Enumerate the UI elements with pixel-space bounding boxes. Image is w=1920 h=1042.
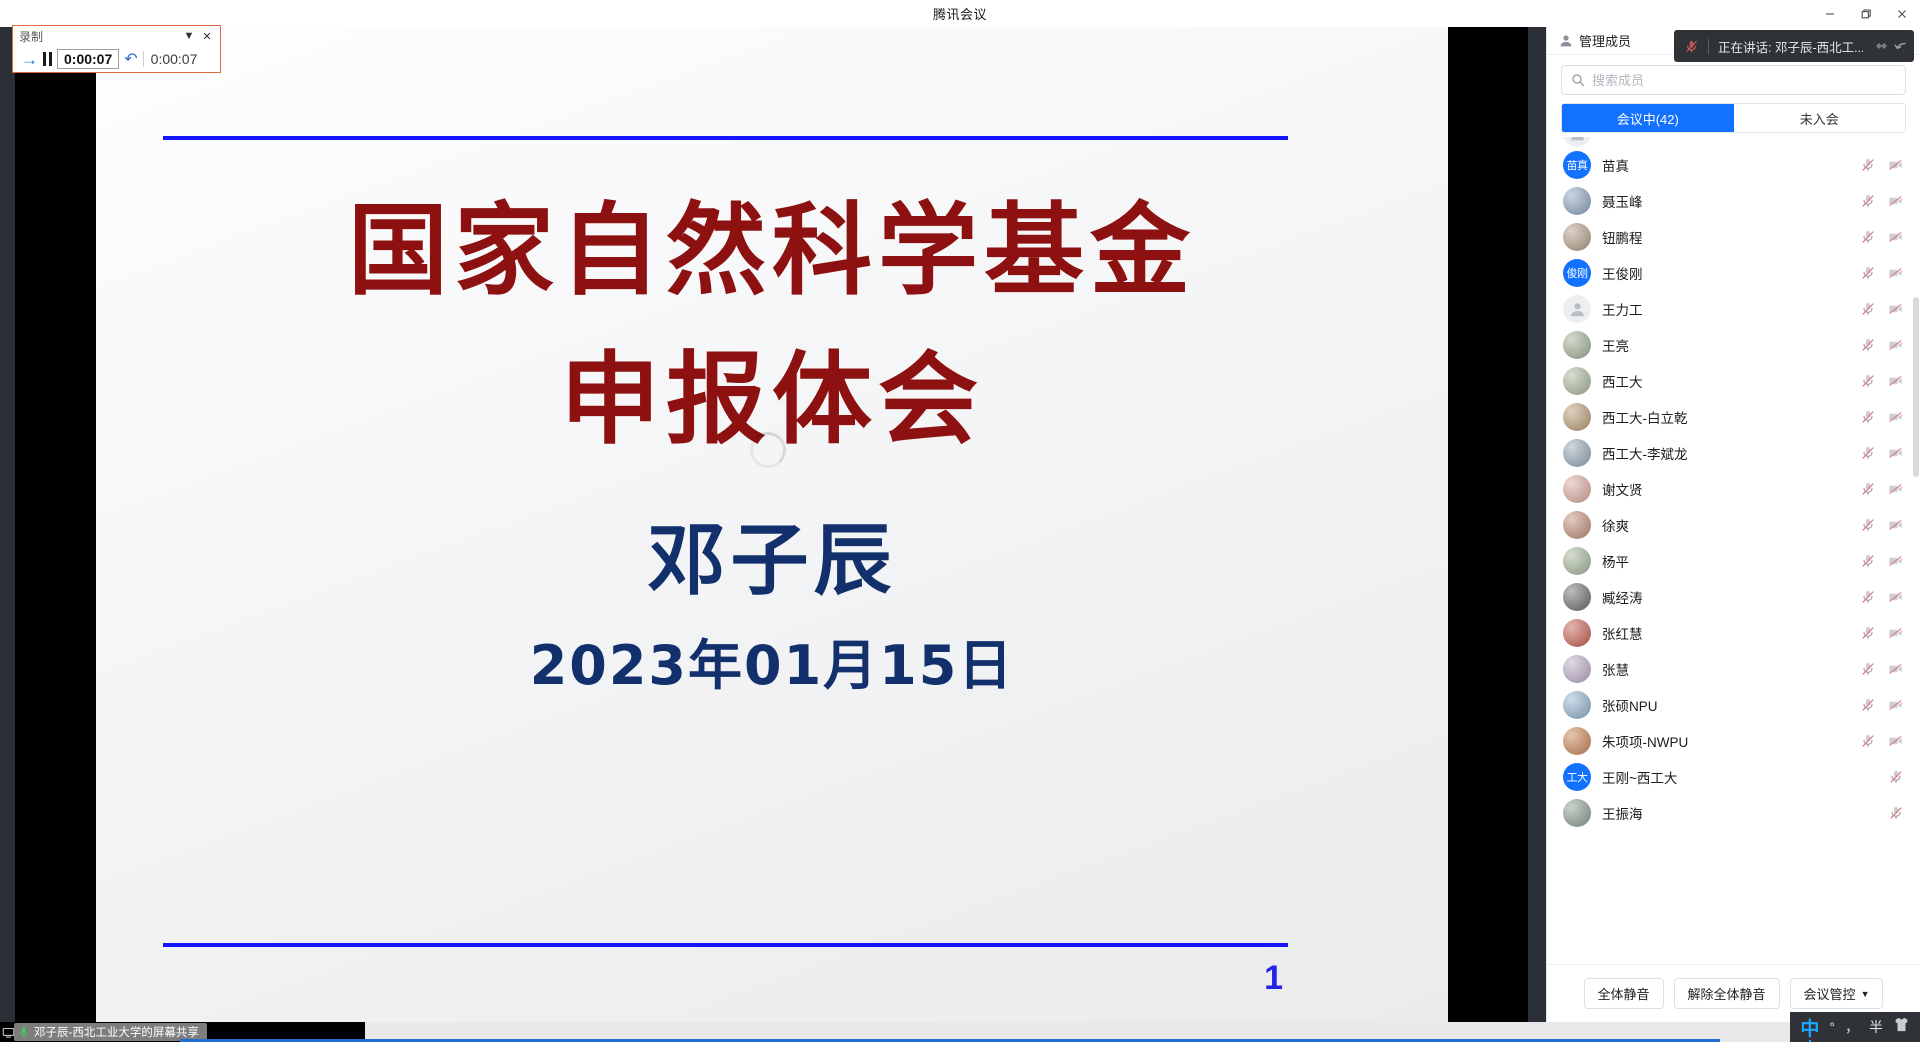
participant-name: 王亮 <box>1602 335 1860 355</box>
mic-muted-icon[interactable] <box>1860 553 1876 569</box>
camera-off-icon[interactable] <box>1888 697 1904 713</box>
participant-name: 王刚~西工大 <box>1602 767 1888 787</box>
participant-list-scrollbar[interactable] <box>1913 297 1919 477</box>
search-box[interactable] <box>1561 65 1906 95</box>
slide-bottom-rule <box>163 943 1288 947</box>
search-icon <box>1571 73 1585 87</box>
avatar: 俊刚 <box>1563 259 1591 287</box>
mic-muted-icon[interactable] <box>1860 697 1876 713</box>
slide-date: 2023年01月15日 <box>96 639 1448 693</box>
search-wrapper <box>1547 55 1920 103</box>
avatar <box>1563 799 1591 827</box>
close-icon[interactable]: ✕ <box>198 27 216 45</box>
participant-name: 张硕NPU <box>1602 695 1860 715</box>
list-item[interactable]: 张硕NPU <box>1547 687 1920 723</box>
list-item-partial <box>1547 137 1920 147</box>
close-icon <box>1896 8 1908 20</box>
window-titlebar: 腾讯会议 <box>0 0 1920 27</box>
mic-muted-icon[interactable] <box>1860 661 1876 677</box>
avatar <box>1563 223 1591 251</box>
recording-elapsed-time: 0:00:07 <box>57 49 119 69</box>
list-item[interactable]: 张慧 <box>1547 651 1920 687</box>
participant-name: 朱项项-NWPU <box>1602 731 1860 751</box>
mic-muted-icon[interactable] <box>1888 805 1904 821</box>
list-item[interactable]: 西工大-李斌龙 <box>1547 435 1920 471</box>
camera-off-icon[interactable] <box>1888 445 1904 461</box>
participant-name: 张红慧 <box>1602 623 1860 643</box>
avatar <box>1563 583 1591 611</box>
participant-status-icons <box>1860 733 1904 749</box>
tab-not-joined[interactable]: 未入会 <box>1734 104 1906 132</box>
panel-title: 管理成员 <box>1579 31 1631 50</box>
participant-status-icons <box>1860 157 1904 173</box>
speaking-toast[interactable]: 正在讲话: 邓子辰-西北工... <box>1674 30 1914 62</box>
list-item[interactable]: 钮鹏程 <box>1547 219 1920 255</box>
recording-label: 录制 <box>19 28 180 45</box>
mic-muted-icon[interactable] <box>1860 157 1876 173</box>
list-item[interactable]: 西工大-白立乾 <box>1547 399 1920 435</box>
mic-muted-icon[interactable] <box>1888 769 1904 785</box>
avatar <box>1563 403 1591 431</box>
left-gutter <box>0 27 15 1022</box>
taskbar: 邓子辰-西北工业大学的屏幕共享 <box>0 1022 1920 1042</box>
avatar <box>1563 547 1591 575</box>
participant-name: 杨平 <box>1602 551 1860 571</box>
participant-status-icons <box>1860 625 1904 641</box>
participant-name: 王力工 <box>1602 299 1860 319</box>
participant-name: 王俊刚 <box>1602 263 1860 283</box>
chevron-down-icon[interactable]: ▼ <box>180 27 198 45</box>
camera-off-icon[interactable] <box>1888 625 1904 641</box>
mic-muted-icon[interactable] <box>1860 589 1876 605</box>
participant-name: 臧经涛 <box>1602 587 1860 607</box>
screen-share-text: 邓子辰-西北工业大学的屏幕共享 <box>34 1024 199 1040</box>
mic-muted-icon[interactable] <box>1860 445 1876 461</box>
camera-off-icon[interactable] <box>1888 589 1904 605</box>
slide-page-number: 1 <box>1264 959 1283 998</box>
camera-off-icon[interactable] <box>1888 265 1904 281</box>
camera-off-icon[interactable] <box>1888 661 1904 677</box>
recording-toolbar[interactable]: 录制 ▼ ✕ → 0:00:07 ↶ 0:00:07 <box>12 25 221 73</box>
diamonds-icon <box>1872 38 1888 54</box>
mic-muted-icon[interactable] <box>1860 301 1876 317</box>
tab-in-meeting[interactable]: 会议中(42) <box>1562 104 1734 132</box>
avatar <box>1563 619 1591 647</box>
participant-status-icons <box>1860 661 1904 677</box>
participant-name: 王振海 <box>1602 803 1888 823</box>
mic-muted-icon[interactable] <box>1860 733 1876 749</box>
restore-icon <box>1860 8 1872 20</box>
avatar <box>1563 475 1591 503</box>
camera-off-icon[interactable] <box>1888 229 1904 245</box>
minimize-button[interactable] <box>1812 0 1848 27</box>
list-item[interactable]: 苗真苗真 <box>1547 147 1920 183</box>
list-item[interactable]: 臧经涛 <box>1547 579 1920 615</box>
unmute-all-button[interactable]: 解除全体静音 <box>1674 978 1780 1009</box>
list-item[interactable]: 杨平 <box>1547 543 1920 579</box>
avatar <box>1563 439 1591 467</box>
app-root: 腾讯会议 国家自然科学基金 <box>0 0 1920 1042</box>
participant-status-icons <box>1860 193 1904 209</box>
mic-muted-icon[interactable] <box>1860 517 1876 533</box>
slide-presenter-name: 邓子辰 <box>96 522 1448 600</box>
toast-actions[interactable] <box>1872 38 1908 54</box>
participant-name: 西工大-白立乾 <box>1602 407 1860 427</box>
list-item[interactable]: 王亮 <box>1547 327 1920 363</box>
mic-muted-icon[interactable] <box>1860 409 1876 425</box>
window-controls <box>1812 0 1920 27</box>
participant-status-icons <box>1860 553 1904 569</box>
participant-status-icons <box>1860 301 1904 317</box>
list-item[interactable]: 朱项项-NWPU <box>1547 723 1920 759</box>
chevron-down-icon: ▼ <box>1861 989 1870 999</box>
avatar <box>1563 511 1591 539</box>
undo-icon[interactable]: ↶ <box>124 49 137 69</box>
camera-off-icon[interactable] <box>1888 553 1904 569</box>
participant-status-icons <box>1860 589 1904 605</box>
avatar <box>1563 727 1591 755</box>
participant-status-icons <box>1888 769 1904 785</box>
participant-name: 张慧 <box>1602 659 1860 679</box>
list-item[interactable]: 聂玉峰 <box>1547 183 1920 219</box>
camera-off-icon[interactable] <box>1888 409 1904 425</box>
collapse-arrow-icon <box>1892 38 1908 54</box>
speaking-text: 正在讲话: 邓子辰-西北工... <box>1718 37 1863 56</box>
ime-punctuation-indicator[interactable]: ° <box>1829 1019 1835 1035</box>
mic-on-icon <box>18 1026 29 1039</box>
participant-name: 西工大-李斌龙 <box>1602 443 1860 463</box>
mic-muted-icon[interactable] <box>1860 373 1876 389</box>
recording-total-time: 0:00:07 <box>143 51 198 67</box>
participant-status-icons <box>1860 265 1904 281</box>
list-item[interactable]: 谢文贤 <box>1547 471 1920 507</box>
camera-off-icon[interactable] <box>1888 157 1904 173</box>
shared-screen-area: 国家自然科学基金 申报体会 邓子辰 2023年01月15日 1 <box>0 27 1546 1022</box>
mic-muted-icon[interactable] <box>1860 337 1876 353</box>
camera-off-icon[interactable] <box>1888 193 1904 209</box>
screen-share-chip[interactable]: 邓子辰-西北工业大学的屏幕共享 <box>14 1023 207 1041</box>
person-icon <box>1559 34 1573 48</box>
participant-status-icons <box>1860 517 1904 533</box>
avatar <box>1563 295 1591 323</box>
mic-muted-icon[interactable] <box>1860 193 1876 209</box>
toast-separator <box>1708 39 1709 54</box>
participant-status-icons <box>1860 697 1904 713</box>
play-arrow-icon[interactable]: → <box>21 51 38 68</box>
right-gutter <box>1528 27 1546 1022</box>
list-item[interactable]: 王振海 <box>1547 795 1920 831</box>
avatar <box>1563 137 1591 147</box>
camera-off-icon[interactable] <box>1888 373 1904 389</box>
minimize-icon <box>1824 8 1836 20</box>
camera-off-icon[interactable] <box>1888 517 1904 533</box>
participant-status-icons <box>1860 445 1904 461</box>
restore-button[interactable] <box>1848 0 1884 27</box>
avatar <box>1563 655 1591 683</box>
participant-name: 西工大 <box>1602 371 1860 391</box>
mic-muted-icon[interactable] <box>1860 625 1876 641</box>
participant-tabs: 会议中(42) 未入会 <box>1561 103 1906 133</box>
camera-off-icon[interactable] <box>1888 337 1904 353</box>
camera-off-icon[interactable] <box>1888 301 1904 317</box>
pause-icon[interactable] <box>43 52 52 66</box>
mic-muted-icon[interactable] <box>1860 229 1876 245</box>
ime-skin-icon[interactable] <box>1893 1017 1910 1037</box>
system-tray-ime[interactable]: 中 ° ， 半 <box>1790 1012 1920 1042</box>
participant-status-icons <box>1860 229 1904 245</box>
participant-name: 谢文贤 <box>1602 479 1860 499</box>
mic-muted-icon[interactable] <box>1860 481 1876 497</box>
presentation-slide: 国家自然科学基金 申报体会 邓子辰 2023年01月15日 1 <box>96 27 1448 1022</box>
participant-name: 苗真 <box>1602 155 1860 175</box>
participant-name: 聂玉峰 <box>1602 191 1860 211</box>
search-input[interactable] <box>1592 73 1896 88</box>
mic-muted-icon[interactable] <box>1860 265 1876 281</box>
participant-status-icons <box>1860 409 1904 425</box>
participant-list[interactable]: 苗真苗真聂玉峰钮鹏程俊刚王俊刚王力工王亮西工大西工大-白立乾西工大-李斌龙谢文贤… <box>1547 137 1920 964</box>
mute-all-button[interactable]: 全体静音 <box>1584 978 1664 1009</box>
mic-muted-icon <box>1684 39 1699 54</box>
slide-title-line1: 国家自然科学基金 <box>96 201 1448 301</box>
ime-halfwidth-indicator[interactable]: 半 <box>1869 1017 1883 1037</box>
participant-status-icons <box>1860 337 1904 353</box>
avatar <box>1563 187 1591 215</box>
list-item[interactable]: 王力工 <box>1547 291 1920 327</box>
meeting-control-label: 会议管控 <box>1804 984 1856 1003</box>
list-item[interactable]: 张红慧 <box>1547 615 1920 651</box>
list-item[interactable]: 工大王刚~西工大 <box>1547 759 1920 795</box>
camera-off-icon[interactable] <box>1888 733 1904 749</box>
close-button[interactable] <box>1884 0 1920 27</box>
participant-status-icons <box>1888 805 1904 821</box>
list-item[interactable]: 徐爽 <box>1547 507 1920 543</box>
participant-name: 徐爽 <box>1602 515 1860 535</box>
participant-name: 钮鹏程 <box>1602 227 1860 247</box>
list-item[interactable]: 西工大 <box>1547 363 1920 399</box>
ime-comma-indicator[interactable]: ， <box>1845 1017 1859 1037</box>
meeting-control-button[interactable]: 会议管控 ▼ <box>1790 978 1884 1009</box>
participants-panel: 管理成员 会议中(42) 未入会 苗真苗真聂玉峰钮鹏程俊刚王俊刚王力工王亮西工大… <box>1546 27 1920 1022</box>
loading-spinner-icon <box>750 432 786 468</box>
list-item[interactable]: 俊刚王俊刚 <box>1547 255 1920 291</box>
participant-status-icons <box>1860 481 1904 497</box>
slide-top-rule <box>163 136 1288 140</box>
ime-chinese-indicator[interactable]: 中 <box>1800 1014 1819 1041</box>
avatar: 工大 <box>1563 763 1591 791</box>
avatar <box>1563 691 1591 719</box>
avatar <box>1563 367 1591 395</box>
participant-status-icons <box>1860 373 1904 389</box>
camera-off-icon[interactable] <box>1888 481 1904 497</box>
avatar <box>1563 331 1591 359</box>
avatar: 苗真 <box>1563 151 1591 179</box>
window-title: 腾讯会议 <box>933 4 987 23</box>
